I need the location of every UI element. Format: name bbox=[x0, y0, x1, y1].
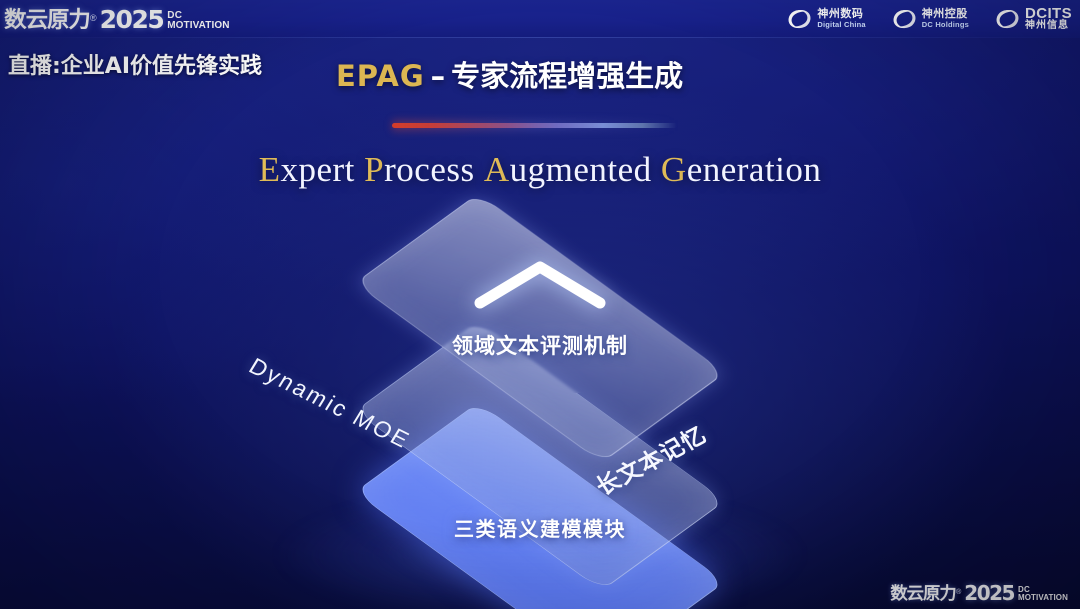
slide-header-band: 数云原力 ® 2025 DC MOTIVATION 神州数码 Digital C… bbox=[0, 0, 1080, 38]
brand-logo-dc-line2: MOTIVATION bbox=[167, 21, 229, 31]
watermark-dc-motivation: DC MOTIVATION bbox=[1018, 586, 1068, 602]
brand-logo-year: 2025 bbox=[100, 7, 164, 32]
page-title-dash: – bbox=[425, 59, 452, 93]
partner-name-en: DC Holdings bbox=[922, 21, 969, 29]
subtitle-space-2 bbox=[475, 150, 484, 189]
partner-logo-text: 神州数码 Digital China bbox=[817, 9, 865, 28]
partner-logo-digital-china: 神州数码 Digital China bbox=[787, 8, 865, 30]
partner-logo-group: 神州数码 Digital China 神州控股 DC Holdings bbox=[787, 4, 1072, 34]
brand-logo-dc-motivation: DC MOTIVATION bbox=[167, 11, 229, 31]
brand-logo-registered-mark: ® bbox=[90, 14, 97, 23]
watermark-year: 2025 bbox=[964, 583, 1014, 603]
presentation-slide: 数云原力 ® 2025 DC MOTIVATION 神州数码 Digital C… bbox=[0, 0, 1080, 609]
subtitle-space-1 bbox=[355, 150, 364, 189]
page-title-acronym: EPAG bbox=[336, 59, 425, 93]
subtitle: Expert Process Augmented Generation bbox=[0, 150, 1080, 190]
layered-stack-diagram: 领域文本评测机制 Dynamic MOE 长文本记忆 三类语义建模模块 bbox=[0, 190, 1080, 590]
brand-logo: 数云原力 ® 2025 DC MOTIVATION bbox=[5, 2, 230, 32]
watermark-registered-mark: ® bbox=[956, 589, 961, 596]
diagram-layer-top-label: 领域文本评测机制 bbox=[452, 330, 628, 360]
diagram-layer-bottom-label: 三类语义建模模块 bbox=[454, 513, 626, 542]
brand-watermark: 数云原力 ® 2025 DC MOTIVATION bbox=[891, 583, 1068, 603]
subtitle-cap-e: E bbox=[259, 150, 281, 189]
live-stream-title: 直播:企业AI价值先锋实践 bbox=[8, 48, 262, 80]
subtitle-space-3 bbox=[652, 150, 661, 189]
gradient-divider bbox=[392, 123, 677, 128]
swirl-icon bbox=[892, 8, 917, 30]
subtitle-cap-a: A bbox=[484, 150, 510, 189]
partner-logo-text: DCITS 神州信息 bbox=[1025, 6, 1072, 32]
watermark-dc-line2: MOTIVATION bbox=[1018, 594, 1068, 602]
brand-logo-cn: 数云原力 bbox=[4, 10, 90, 32]
partner-logo-dc-holdings: 神州控股 DC Holdings bbox=[892, 8, 969, 30]
subtitle-rest-generation: eneration bbox=[687, 150, 822, 189]
page-title-cn: 专家流程增强生成 bbox=[451, 59, 683, 93]
chevron-up-icon bbox=[470, 255, 610, 313]
partner-logo-text: 神州控股 DC Holdings bbox=[922, 9, 969, 28]
page-title: EPAG–专家流程增强生成 bbox=[336, 53, 683, 95]
swirl-icon bbox=[995, 8, 1020, 30]
subtitle-cap-g: G bbox=[661, 150, 687, 189]
partner-logo-dcits: DCITS 神州信息 bbox=[995, 6, 1072, 32]
partner-name-cn: 神州信息 bbox=[1025, 21, 1072, 32]
subtitle-rest-process: rocess bbox=[384, 150, 474, 189]
subtitle-rest-expert: xpert bbox=[280, 150, 354, 189]
subtitle-rest-augmented: ugmented bbox=[510, 150, 652, 189]
swirl-icon bbox=[787, 8, 812, 30]
watermark-cn: 数云原力 bbox=[890, 586, 955, 603]
partner-name-en: DCITS bbox=[1025, 6, 1072, 21]
subtitle-cap-p: P bbox=[364, 150, 384, 189]
partner-name-en: Digital China bbox=[817, 21, 865, 29]
